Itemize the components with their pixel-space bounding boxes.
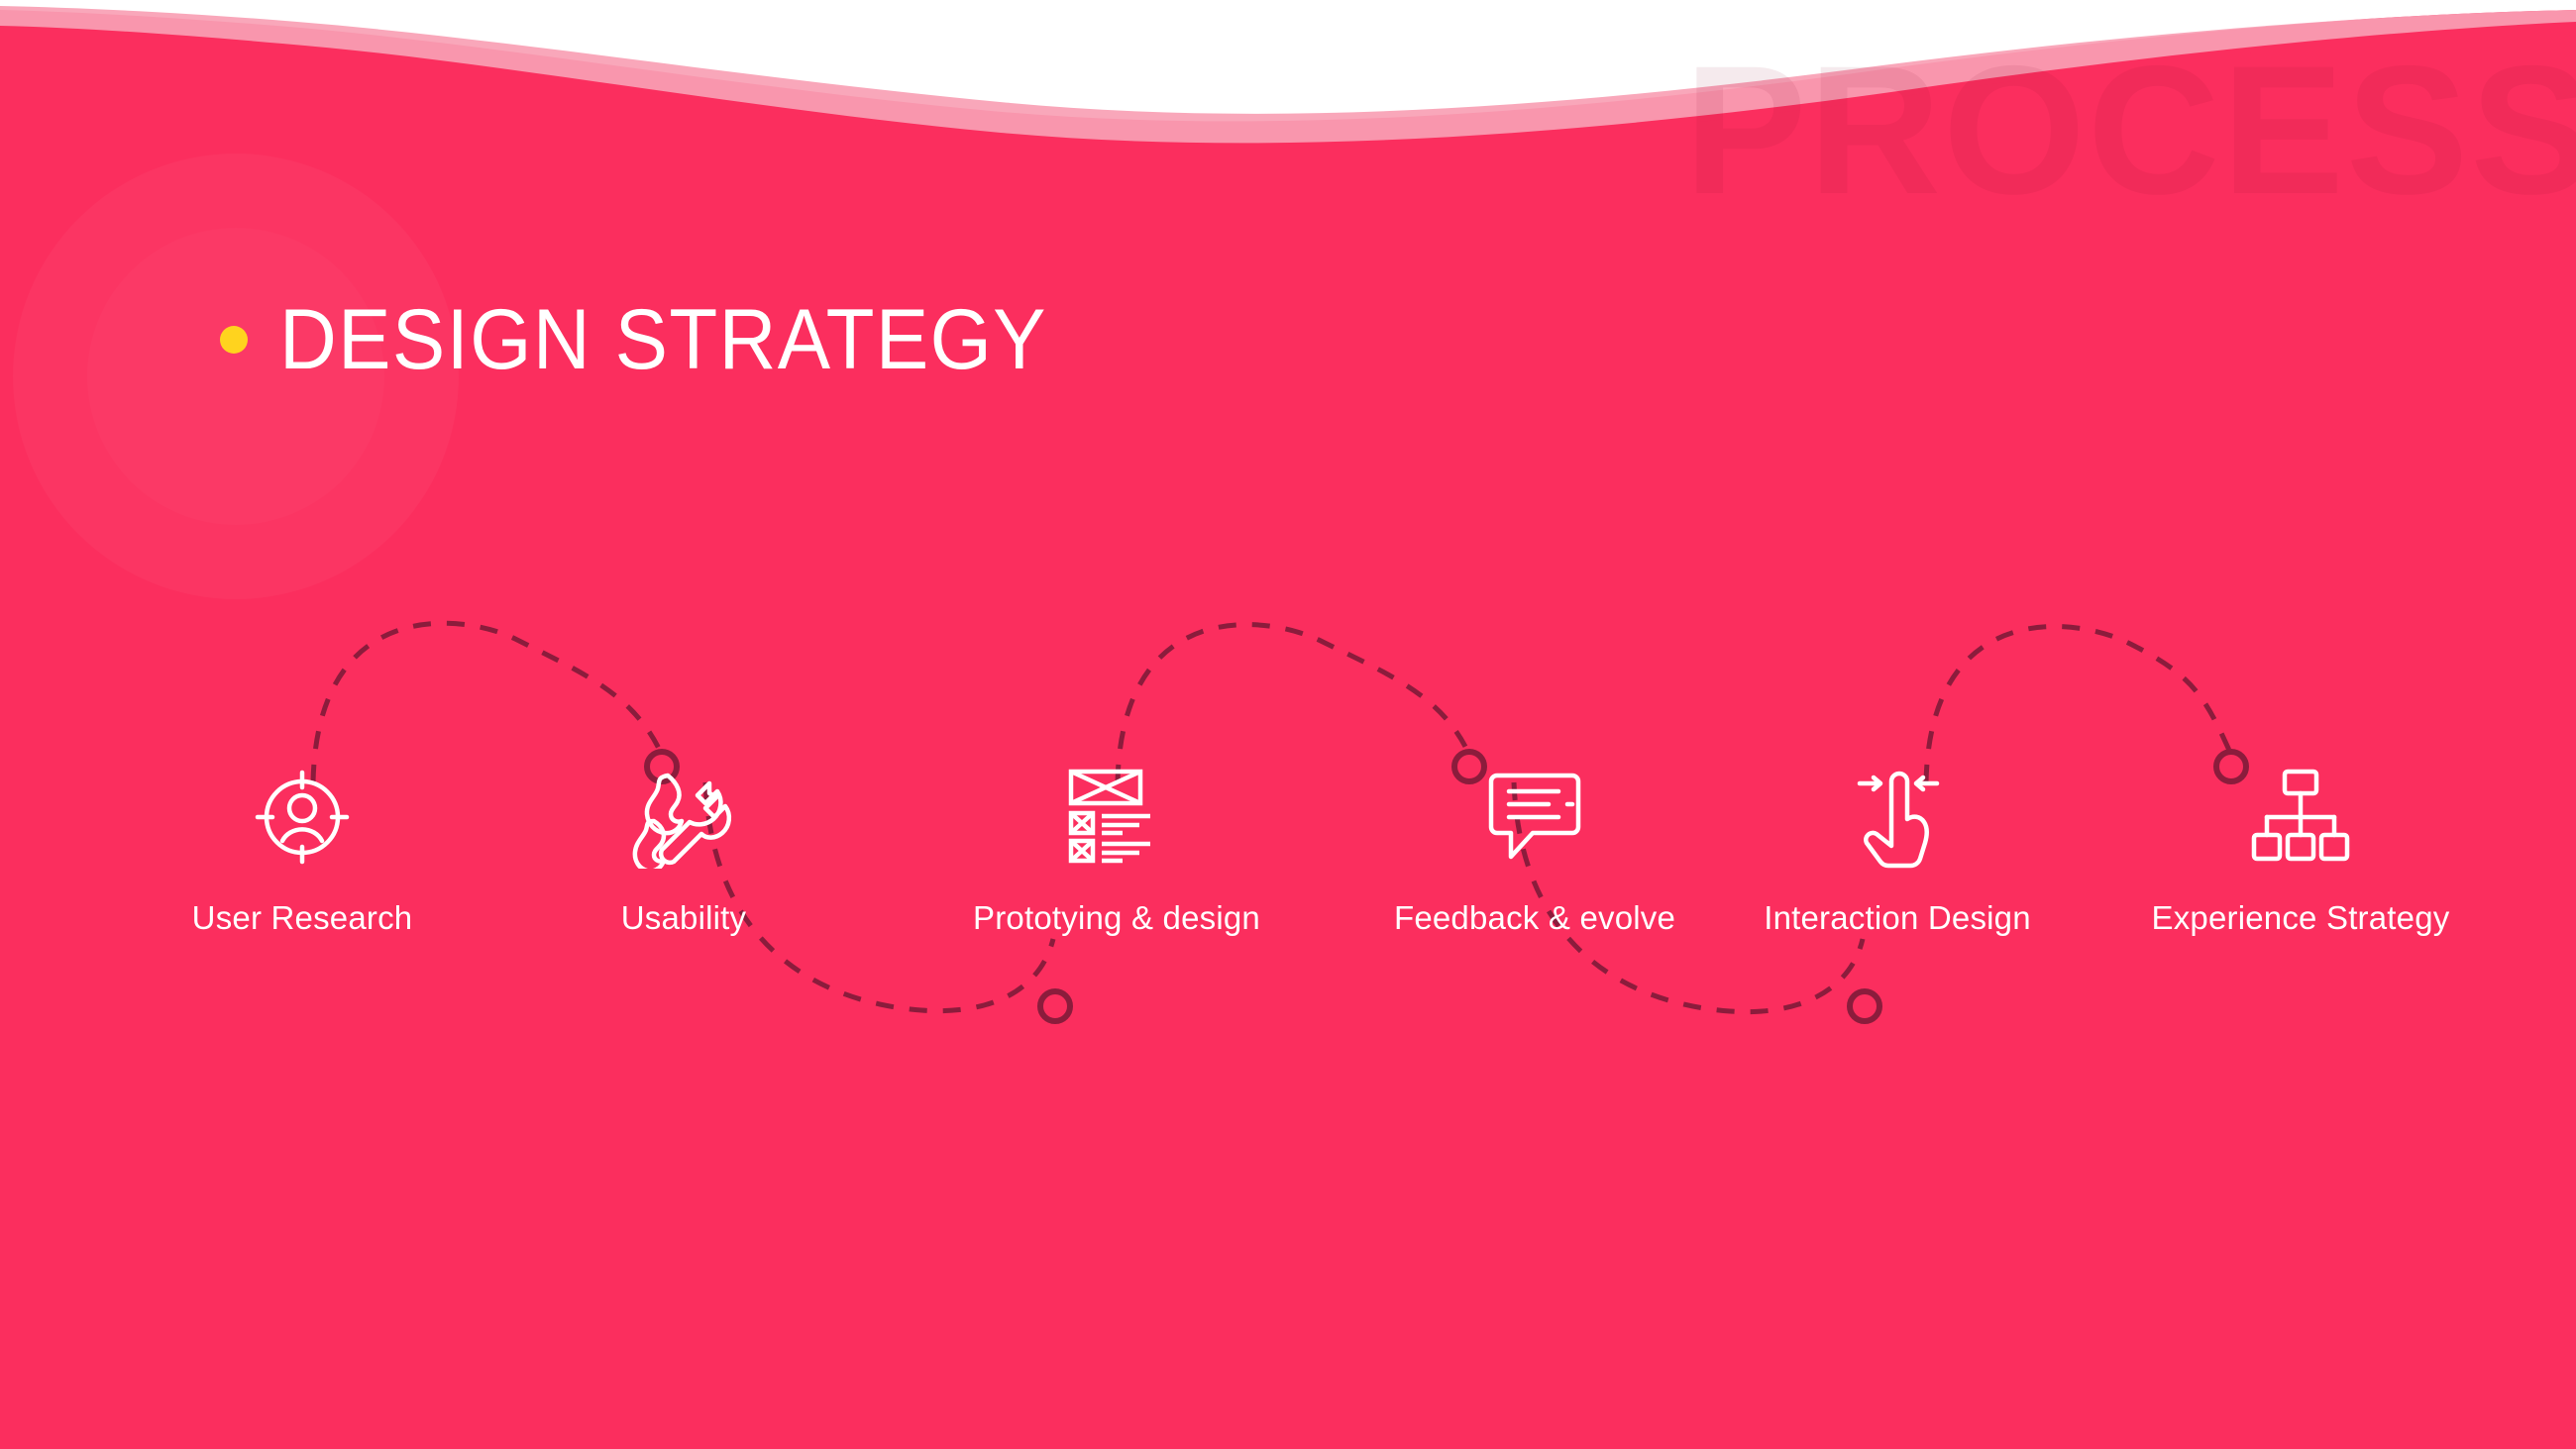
- step-usability[interactable]: Usability: [520, 763, 847, 937]
- page-title-text: DESIGN STRATEGY: [279, 297, 1047, 382]
- step-label: Usability: [520, 899, 847, 937]
- step-interaction-design[interactable]: Interaction Design: [1734, 763, 2061, 937]
- speech-bubble-icon: [1371, 763, 1698, 872]
- hand-pointer-icon: [1734, 763, 2061, 872]
- step-prototying-design[interactable]: Prototying & design: [953, 763, 1280, 937]
- step-label: Feedback & evolve: [1371, 899, 1698, 937]
- sitemap-icon: [2137, 763, 2464, 872]
- step-user-research[interactable]: User Research: [139, 763, 466, 937]
- step-experience-strategy[interactable]: Experience Strategy: [2137, 763, 2464, 937]
- fire-wrench-icon: [520, 763, 847, 872]
- title-bullet-dot: [220, 326, 248, 354]
- wireframe-icon: [953, 763, 1280, 872]
- step-label: Prototying & design: [953, 899, 1280, 937]
- process-steps: User Research Usability: [0, 763, 2576, 1030]
- page-title: DESIGN STRATEGY: [220, 297, 1105, 382]
- process-watermark: PROCESS: [1684, 40, 2576, 223]
- step-label: User Research: [139, 899, 466, 937]
- step-label: Interaction Design: [1734, 899, 2061, 937]
- slide-canvas: PROCESS DESIGN STRATEGY: [0, 0, 2576, 1449]
- step-feedback-evolve[interactable]: Feedback & evolve: [1371, 763, 1698, 937]
- target-person-icon: [139, 763, 466, 872]
- step-label: Experience Strategy: [2137, 899, 2464, 937]
